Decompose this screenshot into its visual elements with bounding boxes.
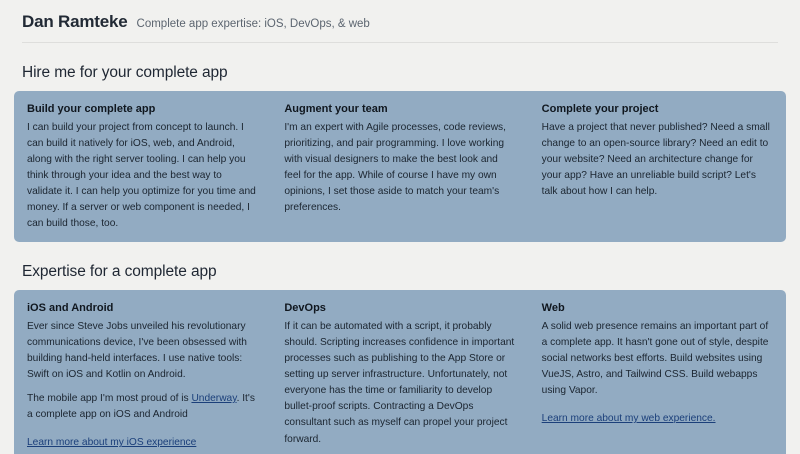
expertise-column-web-title: Web <box>542 300 773 317</box>
site-tagline: Complete app expertise: iOS, DevOps, & w… <box>137 18 370 30</box>
expertise-column-devops: DevOps If it can be automated with a scr… <box>271 300 528 454</box>
site-header: Dan Ramteke Complete app expertise: iOS,… <box>0 0 800 32</box>
page-root: Dan Ramteke Complete app expertise: iOS,… <box>0 0 800 454</box>
expertise-ios-paragraph-2: The mobile app I'm most proud of is Unde… <box>27 391 258 423</box>
learn-more-ios-link[interactable]: Learn more about my iOS experience <box>27 435 196 451</box>
hire-column-complete-text: Have a project that never published? Nee… <box>542 120 773 201</box>
hire-column-build: Build your complete app I can build your… <box>14 101 271 232</box>
hire-column-augment: Augment your team I'm an expert with Agi… <box>271 101 528 232</box>
section-title-hire-me: Hire me for your complete app <box>22 64 786 82</box>
expertise-column-devops-title: DevOps <box>284 300 515 317</box>
hire-column-build-text: I can build your project from concept to… <box>27 120 258 233</box>
expertise-column-web: Web A solid web presence remains an impo… <box>529 300 786 454</box>
expertise-column-ios-android: iOS and Android Ever since Steve Jobs un… <box>14 300 271 454</box>
hire-column-complete: Complete your project Have a project tha… <box>529 101 786 232</box>
hire-column-augment-title: Augment your team <box>284 101 515 118</box>
section-hire-me: Hire me for your complete app Build your… <box>0 64 800 242</box>
expertise-card: iOS and Android Ever since Steve Jobs un… <box>14 290 786 454</box>
expertise-ios-paragraph-1: Ever since Steve Jobs unveiled his revol… <box>27 319 258 383</box>
hire-column-augment-text: I'm an expert with Agile processes, code… <box>284 120 515 217</box>
ios-p2-before: The mobile app I'm most proud of is <box>27 393 191 404</box>
hire-column-build-title: Build your complete app <box>27 101 258 118</box>
hire-me-card: Build your complete app I can build your… <box>14 91 786 242</box>
header-divider <box>22 42 778 43</box>
section-expertise: Expertise for a complete app iOS and And… <box>0 263 800 454</box>
section-title-expertise: Expertise for a complete app <box>22 263 786 281</box>
expertise-web-paragraph-1: A solid web presence remains an importan… <box>542 319 773 400</box>
expertise-devops-paragraph-1: If it can be automated with a script, it… <box>284 319 515 448</box>
expertise-column-ios-android-title: iOS and Android <box>27 300 258 317</box>
learn-more-web-link[interactable]: Learn more about my web experience. <box>542 411 716 427</box>
hire-column-complete-title: Complete your project <box>542 101 773 118</box>
underway-app-link[interactable]: Underway <box>191 393 236 404</box>
site-name: Dan Ramteke <box>22 12 128 32</box>
